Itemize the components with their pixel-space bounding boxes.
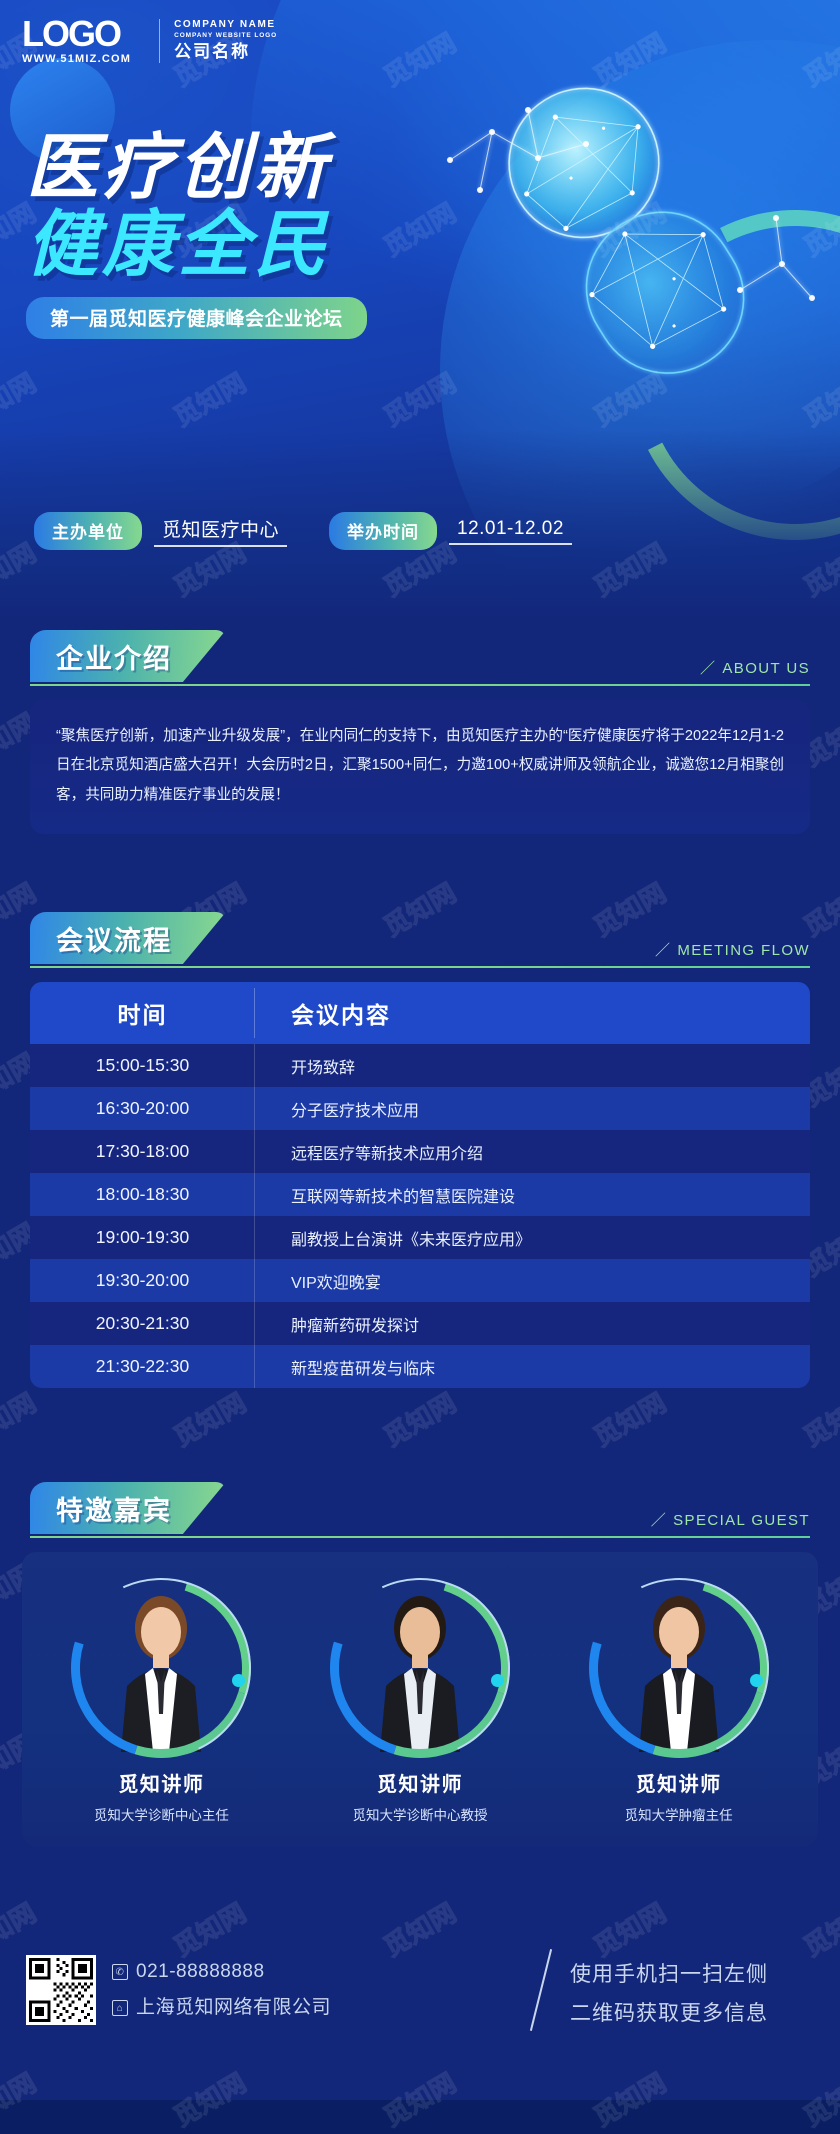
guest-section-title: 特邀嘉宾 [30, 1482, 226, 1534]
logo-website: WWW.51MIZ.COM [22, 53, 131, 65]
footer-scan-note: 使用手机扫一扫左侧 二维码获取更多信息 [570, 1956, 768, 2034]
flow-section-title: 会议流程 [30, 912, 226, 964]
slash-icon: ／ [700, 660, 716, 677]
about-section-title: 企业介绍 [30, 630, 226, 682]
watermark-text: 觅知网 [376, 1383, 462, 1454]
meeting-flow-table: 时间 会议内容 15:00-15:30开场致辞16:30-20:00分子医疗技术… [30, 982, 810, 1388]
watermark-text: 觅知网 [796, 1383, 840, 1454]
table-row: 17:30-18:00远程医疗等新技术应用介绍 [30, 1130, 810, 1173]
brand-header: LOGO WWW.51MIZ.COM COMPANY NAME COMPANY … [22, 16, 277, 65]
about-section: 企业介绍 ／ABOUT US “聚焦医疗创新，加速产业升级发展”，在业内同仁的支… [0, 630, 840, 834]
guest-card: 觅知讲师觅知大学诊断中心主任 [51, 1578, 271, 1824]
row-time: 18:00-18:30 [30, 1173, 255, 1216]
table-row: 20:30-21:30肿瘤新药研发探讨 [30, 1302, 810, 1345]
footer-phone-line: ✆ 021-88888888 [112, 1954, 331, 1990]
footer-phone: 021-88888888 [136, 1954, 265, 1990]
page-footer: ✆ 021-88888888 ⌂ 上海觅知网络有限公司 使用手机扫一扫左侧 二维… [0, 1920, 840, 2100]
date-label: 举办时间 [329, 512, 437, 550]
row-content: 副教授上台演讲《未来医疗应用》 [255, 1226, 810, 1250]
guest-photo [330, 1578, 510, 1758]
guest-ring-thin [46, 1553, 277, 1784]
qr-code-image [26, 1955, 96, 2025]
table-header-row: 时间 会议内容 [30, 982, 810, 1044]
guest-title: 觅知大学肿瘤主任 [569, 1804, 789, 1824]
guest-card-list: 觅知讲师觅知大学诊断中心主任觅知讲师觅知大学诊断中心教授觅知讲师觅知大学肿瘤主任 [22, 1552, 818, 1846]
guest-section-title-en: ／SPECIAL GUEST [651, 1509, 810, 1530]
organizer-value: 觅知医疗中心 [154, 515, 287, 547]
footer-divider [530, 1949, 552, 2031]
row-content: 新型疫苗研发与临床 [255, 1355, 810, 1379]
logo-wordmark: LOGO [22, 16, 131, 51]
hero-subtitle-badge: 第一届觅知医疗健康峰会企业论坛 [26, 297, 367, 339]
about-section-header: 企业介绍 ／ABOUT US [30, 630, 810, 686]
logo-block: LOGO WWW.51MIZ.COM [22, 16, 145, 65]
table-row: 21:30-22:30新型疫苗研发与临床 [30, 1345, 810, 1388]
flow-section-rule [30, 966, 810, 968]
guest-title: 觅知大学诊断中心教授 [310, 1804, 530, 1824]
capsule-network-illustration [410, 40, 830, 420]
row-time: 20:30-21:30 [30, 1302, 255, 1345]
watermark-text: 觅知网 [586, 1383, 672, 1454]
table-row: 16:30-20:00分子医疗技术应用 [30, 1087, 810, 1130]
footer-company: 上海觅知网络有限公司 [136, 1990, 331, 2026]
watermark-text: 觅知网 [166, 1383, 252, 1454]
flow-section-header: 会议流程 ／MEETING FLOW [30, 912, 810, 968]
header-divider [159, 19, 160, 63]
scan-note-line1: 使用手机扫一扫左侧 [570, 1956, 768, 1995]
row-time: 17:30-18:00 [30, 1130, 255, 1173]
row-content: 肿瘤新药研发探讨 [255, 1312, 810, 1336]
table-row: 18:00-18:30互联网等新技术的智慧医院建设 [30, 1173, 810, 1216]
guest-photo [589, 1578, 769, 1758]
row-content: 开场致辞 [255, 1054, 810, 1078]
hero-title-line2: 健康全民 [26, 209, 367, 282]
flow-section-title-en: ／MEETING FLOW [655, 939, 810, 960]
guest-name: 觅知讲师 [310, 1768, 530, 1797]
row-content: 远程医疗等新技术应用介绍 [255, 1140, 810, 1164]
table-body: 15:00-15:30开场致辞16:30-20:00分子医疗技术应用17:30-… [30, 1044, 810, 1388]
special-guest-section: 特邀嘉宾 ／SPECIAL GUEST 觅知讲师觅知大学诊断中心主任觅知讲师觅知… [0, 1482, 840, 1846]
event-meta-row: 主办单位 觅知医疗中心 举办时间 12.01-12.02 [34, 512, 572, 550]
guest-section-rule [30, 1536, 810, 1538]
watermark-text: 觅知网 [0, 1383, 42, 1454]
table-row: 19:30-20:00VIP欢迎晚宴 [30, 1259, 810, 1302]
row-content: 互联网等新技术的智慧医院建设 [255, 1183, 810, 1207]
guest-ring-dot [491, 1674, 504, 1687]
row-time: 16:30-20:00 [30, 1087, 255, 1130]
scan-note-line2: 二维码获取更多信息 [570, 1995, 768, 2034]
guest-photo [71, 1578, 251, 1758]
guest-ring-thin [305, 1553, 536, 1784]
about-section-rule [30, 684, 810, 686]
row-time: 19:30-20:00 [30, 1259, 255, 1302]
row-content: 分子医疗技术应用 [255, 1097, 810, 1121]
about-text-box: “聚焦医疗创新，加速产业升级发展”，在业内同仁的支持下，由觅知医疗主办的“医疗健… [30, 700, 810, 834]
guest-title: 觅知大学诊断中心主任 [51, 1804, 271, 1824]
row-time: 15:00-15:30 [30, 1044, 255, 1087]
about-paragraph: “聚焦医疗创新，加速产业升级发展”，在业内同仁的支持下，由觅知医疗主办的“医疗健… [56, 722, 784, 810]
about-section-title-en: ／ABOUT US [700, 657, 810, 678]
hero-title-group: 医疗创新 健康全民 第一届觅知医疗健康峰会企业论坛 [26, 132, 367, 339]
organizer-label: 主办单位 [34, 512, 142, 550]
guest-card: 觅知讲师觅知大学诊断中心教授 [310, 1578, 530, 1824]
company-website-en: COMPANY WEBSITE LOGO [174, 32, 277, 39]
company-name-cn: 公司名称 [174, 42, 277, 62]
guest-section-header: 特邀嘉宾 ／SPECIAL GUEST [30, 1482, 810, 1538]
column-header-time: 时间 [30, 982, 255, 1044]
column-header-content: 会议内容 [255, 982, 810, 1044]
guest-ring-thin [563, 1553, 794, 1784]
slash-icon: ／ [651, 1512, 667, 1529]
table-row: 15:00-15:30开场致辞 [30, 1044, 810, 1087]
hero-title-line1: 医疗创新 [26, 132, 367, 205]
date-value: 12.01-12.02 [449, 518, 572, 545]
row-time: 19:00-19:30 [30, 1216, 255, 1259]
row-content: VIP欢迎晚宴 [255, 1269, 810, 1293]
slash-icon: ／ [655, 942, 671, 959]
footer-text-lines: ✆ 021-88888888 ⌂ 上海觅知网络有限公司 [112, 1954, 331, 2026]
company-block: COMPANY NAME COMPANY WEBSITE LOGO 公司名称 [174, 19, 277, 62]
footer-company-line: ⌂ 上海觅知网络有限公司 [112, 1990, 331, 2026]
guest-name: 觅知讲师 [569, 1768, 789, 1797]
table-row: 19:00-19:30副教授上台演讲《未来医疗应用》 [30, 1216, 810, 1259]
guest-name: 觅知讲师 [51, 1768, 271, 1797]
company-name-en: COMPANY NAME [174, 19, 277, 31]
row-time: 21:30-22:30 [30, 1345, 255, 1388]
footer-contact-block: ✆ 021-88888888 ⌂ 上海觅知网络有限公司 [26, 1954, 331, 2026]
guest-ring-dot [750, 1674, 763, 1687]
guest-card: 觅知讲师觅知大学肿瘤主任 [569, 1578, 789, 1824]
home-icon: ⌂ [112, 2000, 128, 2016]
meeting-flow-section: 会议流程 ／MEETING FLOW 时间 会议内容 15:00-15:30开场… [0, 912, 840, 1388]
phone-icon: ✆ [112, 1964, 128, 1980]
